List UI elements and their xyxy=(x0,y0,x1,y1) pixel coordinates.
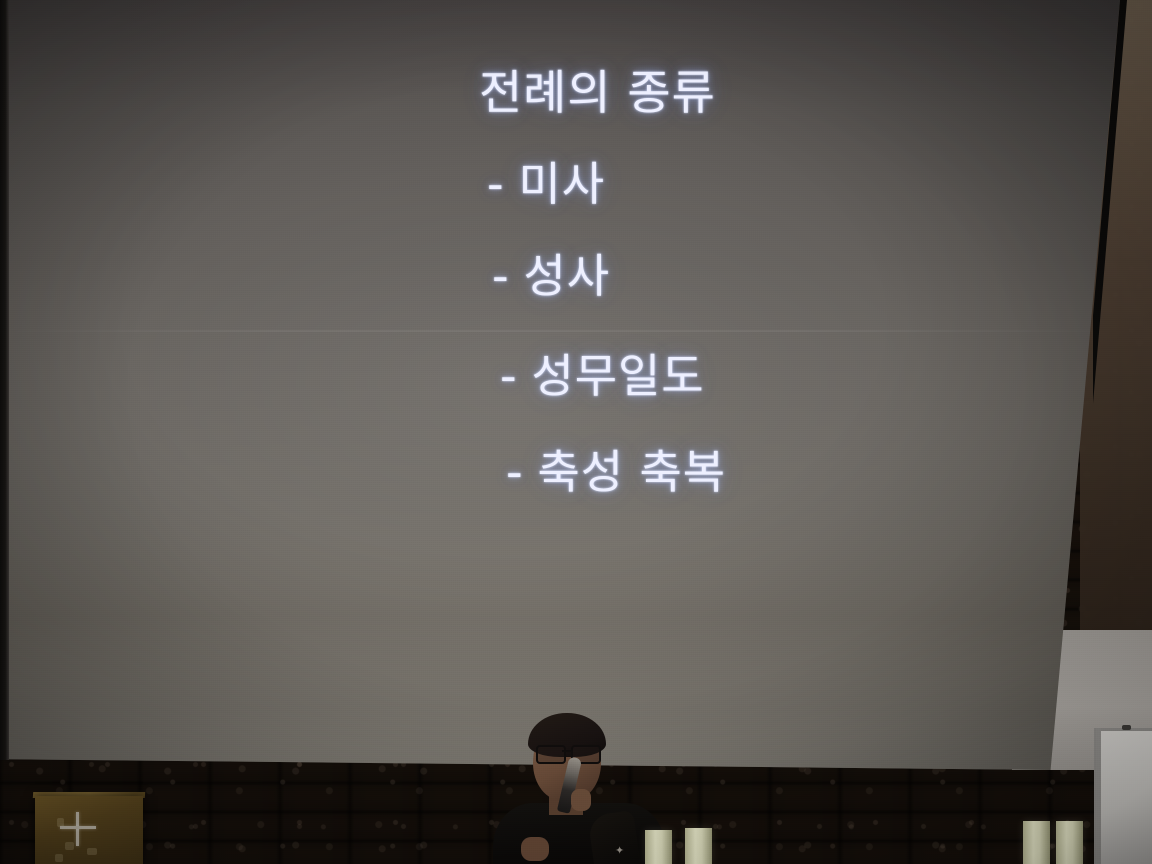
photo-scene: 전례의 종류 -미사 -성사 -성무일도 -축성 축복 xyxy=(0,0,1152,864)
glasses-icon xyxy=(535,745,601,761)
cross-icon xyxy=(60,812,96,846)
presenter-hand-holding-mic xyxy=(571,789,591,811)
frame-left-dark-strip xyxy=(0,0,9,760)
presenter-gesturing-hand xyxy=(521,837,549,861)
candle-4 xyxy=(1056,821,1083,864)
whiteboard-frame-leg xyxy=(1096,728,1101,864)
candle-3 xyxy=(1023,821,1050,864)
lectern-decor-3 xyxy=(55,854,63,862)
whiteboard xyxy=(1094,728,1152,864)
screen-seam xyxy=(0,330,1120,332)
projection-screen xyxy=(0,0,1120,770)
lectern-decor-4 xyxy=(87,848,97,855)
shirt-logo-icon: ✦ xyxy=(615,845,627,857)
candle-1 xyxy=(645,830,672,864)
screen-vignette xyxy=(0,0,1120,770)
whiteboard-clip-icon xyxy=(1122,725,1131,730)
candle-2 xyxy=(685,828,712,864)
